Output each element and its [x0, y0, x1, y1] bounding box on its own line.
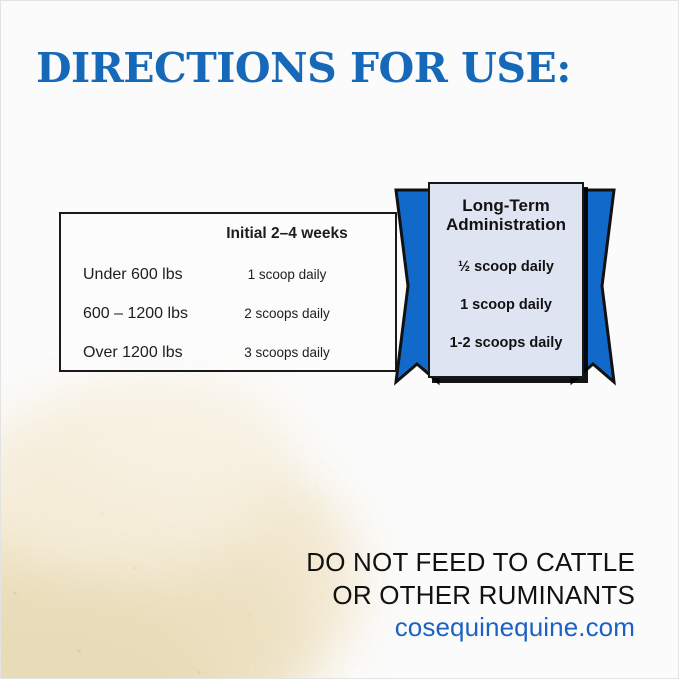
table-row: Under 600 lbs 1 scoop daily	[59, 255, 397, 294]
table-row: 600 – 1200 lbs 2 scoops daily	[59, 294, 397, 333]
warning-line-1: DO NOT FEED TO CATTLE	[0, 546, 635, 579]
list-item: 1-2 scoops daily	[430, 324, 582, 362]
initial-dose-value: 2 scoops daily	[207, 306, 397, 321]
dosage-table-body: Under 600 lbs 1 scoop daily 600 – 1200 l…	[59, 255, 397, 372]
weight-label: Under 600 lbs	[59, 266, 207, 284]
dosage-table-column-header-initial: Initial 2–4 weeks	[197, 225, 377, 243]
powder-blob	[80, 380, 290, 500]
weight-label: 600 – 1200 lbs	[59, 305, 207, 323]
panel-title-line-1: Long-Term	[430, 196, 582, 215]
warning-text: DO NOT FEED TO CATTLE OR OTHER RUMINANTS	[0, 546, 679, 612]
warning-line-2: OR OTHER RUMINANTS	[0, 579, 635, 612]
product-label-directions-panel: DIRECTIONS FOR USE: Initial 2–4 weeks Un…	[0, 0, 679, 679]
list-item: ½ scoop daily	[430, 248, 582, 286]
page-title: DIRECTIONS FOR USE:	[36, 44, 571, 92]
panel-title: Long-Term Administration	[430, 196, 582, 234]
table-row: Over 1200 lbs 3 scoops daily	[59, 333, 397, 372]
long-term-dose-list: ½ scoop daily 1 scoop daily 1-2 scoops d…	[430, 248, 582, 362]
website-url[interactable]: cosequinequine.com	[0, 612, 679, 643]
long-term-administration-ribbon: Long-Term Administration ½ scoop daily 1…	[392, 176, 618, 392]
panel-title-line-2: Administration	[430, 215, 582, 234]
list-item: 1 scoop daily	[430, 286, 582, 324]
initial-dose-value: 1 scoop daily	[207, 267, 397, 282]
long-term-administration-panel: Long-Term Administration ½ scoop daily 1…	[428, 182, 584, 378]
dosage-table-header-row: Initial 2–4 weeks	[59, 225, 397, 243]
initial-dose-value: 3 scoops daily	[207, 345, 397, 360]
weight-label: Over 1200 lbs	[59, 344, 207, 362]
